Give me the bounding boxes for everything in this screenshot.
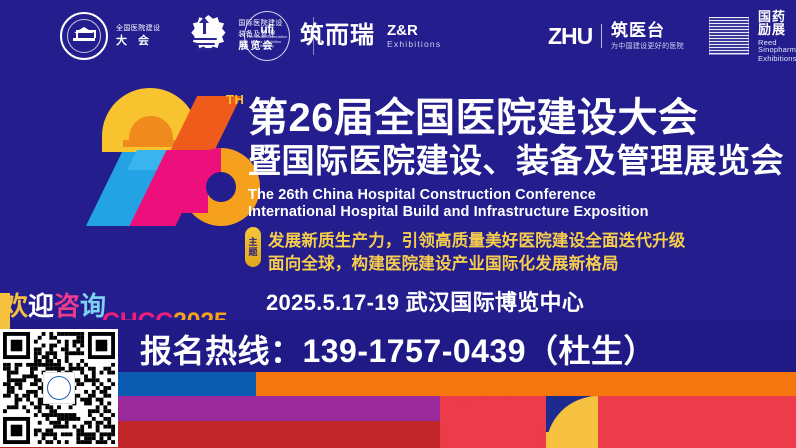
reed-sinopharm-text-block: 国药励展 Reed Sinopharm Exhibitions	[758, 10, 796, 63]
theme-line2: 面向全球，构建医院建设产业国际化发展新格局	[268, 250, 619, 274]
building-seal-icon	[60, 12, 108, 60]
conference-logo-line2: 大 会	[116, 36, 160, 47]
conference-logo-line1: 全国医院建设	[116, 25, 160, 32]
qr-code[interactable]	[0, 329, 118, 447]
welcome-char-4: 询	[80, 291, 106, 321]
band-orange	[256, 372, 796, 396]
qr-center-logo	[43, 372, 75, 404]
conference-logo-text: 全国医院建设 大 会	[116, 25, 160, 47]
zr-english-word: Exhibitions	[387, 40, 441, 49]
reed-sinopharm-mark-icon	[709, 17, 749, 55]
sub-title-cn: 暨国际医院建设、装备及管理展览会	[248, 144, 784, 177]
date-venue: 2025.5.17-19 武汉国际博览中心	[266, 285, 584, 317]
main-title-cn: 第26届全国医院建设大会	[248, 98, 699, 138]
main-title-en-line1: The 26th China Hospital Construction Con…	[248, 186, 596, 204]
theme-badge-char2: 题	[248, 247, 257, 257]
zhu-mark: ZHU	[548, 25, 592, 48]
poster-banner: 全国医院建设 大 会 国际医院建设 装备及管理 展览会	[0, 0, 796, 448]
header-logo-bar: 全国医院建设 大 会 国际医院建设 装备及管理 展览会	[0, 0, 796, 72]
welcome-char-2: 迎	[28, 291, 54, 321]
theme-badge: 主 题	[245, 227, 261, 267]
zhu-slogan: 为中国建设更好的医院	[611, 43, 684, 50]
main-title-en-line2: International Hospital Build and Infrast…	[248, 203, 649, 221]
ordinal-suffix: TH	[226, 92, 244, 107]
zr-chinese-name: 筑而瑞	[300, 24, 375, 48]
logo-group-zr: ufi The Global Association of the Exhibi…	[244, 12, 441, 60]
welcome-char-1: 欢	[2, 291, 28, 321]
block-yellow-shape	[546, 432, 598, 448]
logo-group-partners: ZHU 筑医台 为中国建设更好的医院 国药励展 Reed Sinopharm E…	[548, 14, 796, 58]
zr-english-abbr: Z&R	[387, 23, 441, 38]
sinopharm-english-line2: Exhibitions	[758, 55, 796, 63]
ufi-caption: The Global Association of the Exhibition…	[245, 35, 289, 48]
zhu-text-block: 筑医台 为中国建设更好的医院	[611, 22, 684, 50]
welcome-text: 欢迎咨询	[2, 293, 106, 319]
zr-english-block: Z&R Exhibitions	[387, 23, 441, 49]
qr-center-seal-icon	[47, 376, 71, 400]
qr-code-canvas	[3, 332, 115, 444]
logo-26-mark: TH CHCC2025	[96, 86, 248, 218]
welcome-char-3: 咨	[54, 291, 80, 321]
zhu-divider	[601, 24, 602, 48]
zhu-chinese-name: 筑医台	[611, 22, 684, 39]
theme-line1: 发展新质生产力，引领高质量美好医院建设全面迭代升级	[268, 227, 686, 251]
sinopharm-english-line1: Reed Sinopharm	[758, 39, 796, 54]
snowflake-cross-icon	[186, 14, 230, 58]
ufi-abbr: ufi	[260, 23, 273, 35]
theme-badge-char1: 主	[248, 237, 257, 247]
sinopharm-chinese-name: 国药励展	[758, 10, 796, 36]
qr-block: 欢迎咨询	[0, 293, 120, 448]
ufi-oval-icon: ufi The Global Association of the Exhibi…	[244, 11, 290, 61]
